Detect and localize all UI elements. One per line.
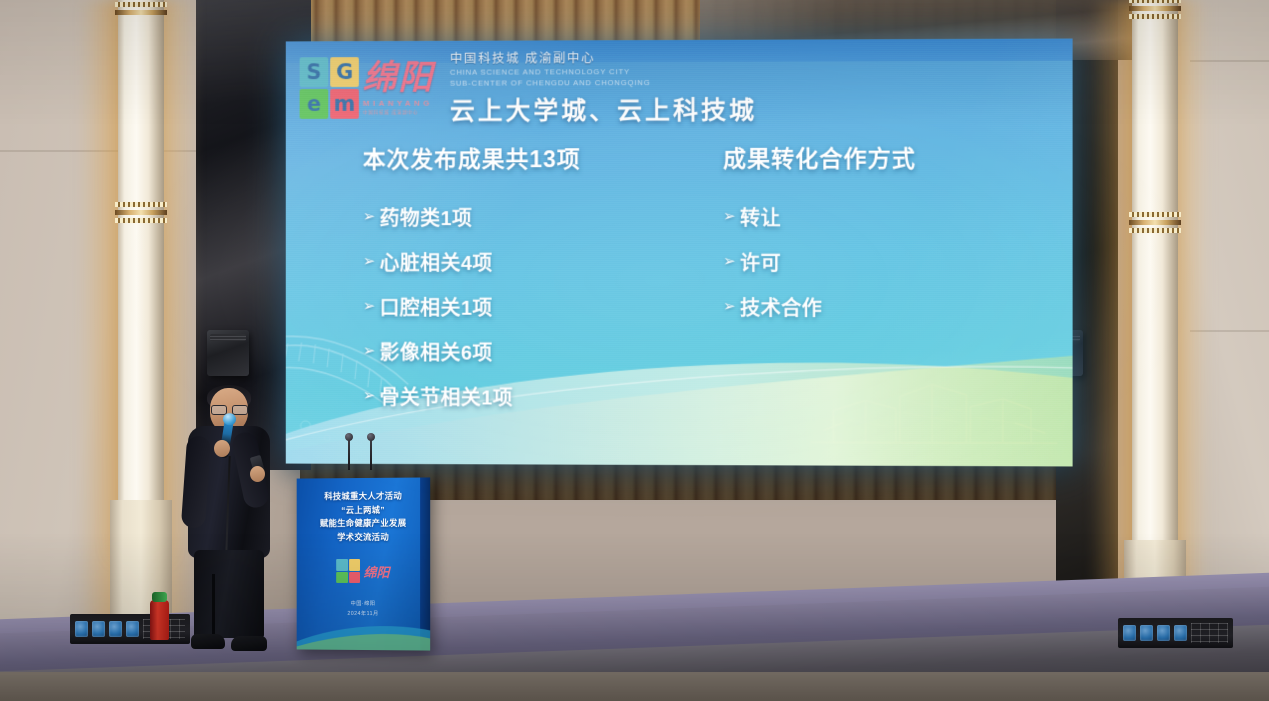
list-item-label: 药物类1项: [380, 202, 473, 231]
header-headline: 云上大学城、云上科技城: [450, 91, 757, 128]
logo-cell-s: S: [300, 57, 329, 87]
list-item-label: 骨关节相关1项: [380, 381, 514, 410]
bullet-arrow-icon: ➢: [723, 254, 740, 269]
logo-cell-m: m: [330, 89, 359, 119]
slide-column-transfer-modes: 成果转化合作方式 ➢ 转让 ➢ 许可 ➢ 技术合作: [723, 139, 1025, 428]
logo-city-name-pinyin: MIANYANG: [363, 98, 434, 107]
power-outlet: [1157, 625, 1170, 641]
presenter-person: [178, 388, 286, 656]
glasses-icon: [211, 405, 247, 413]
podium-logo-city-name: 绵阳: [363, 562, 389, 581]
list-item: ➢ 转让: [723, 202, 1025, 231]
list-item: ➢ 骨关节相关1项: [363, 381, 701, 411]
mianyang-logo-wordmark: 绵阳 MIANYANG 中国科技城 成渝副中心: [363, 60, 434, 115]
presenter-shoe-right: [231, 636, 267, 651]
header-line-cn: 中国科技城 成渝副中心: [450, 47, 757, 67]
conference-stage-photo: S G e m 绵阳 MIANYANG 中国科技城 成渝副中心 中国科技城 成渝…: [0, 0, 1269, 701]
slide-column-results: 本次发布成果共13项 ➢ 药物类1项 ➢ 心脏相关4项 ➢ 口腔相关1项 ➢ 影…: [363, 140, 701, 427]
wall-speaker-left: [207, 330, 249, 376]
list-item-label: 影像相关6项: [380, 337, 493, 366]
bullet-arrow-icon: ➢: [363, 209, 380, 224]
list-item-label: 转让: [740, 202, 781, 231]
bullet-arrow-icon: ➢: [723, 299, 740, 314]
bullet-arrow-icon: ➢: [723, 209, 740, 224]
decorative-pillar-right: [1132, 0, 1178, 594]
presenter-left-hand: [214, 440, 230, 457]
presenter-right-hand: [250, 466, 265, 482]
slide-header-text: 中国科技城 成渝副中心 CHINA SCIENCE AND TECHNOLOGY…: [450, 47, 757, 128]
header-line-en2: SUB-CENTER OF CHENGDU AND CHONGQING: [450, 77, 757, 89]
power-outlet: [1123, 625, 1136, 641]
decorative-pillar-left: [118, 0, 164, 554]
list-item: ➢ 影像相关6项: [363, 337, 701, 367]
bullet-arrow-icon: ➢: [363, 254, 380, 269]
logo-cell-e: e: [300, 89, 329, 119]
list-item-label: 技术合作: [740, 292, 822, 321]
column-title-transfer-modes: 成果转化合作方式: [723, 139, 1025, 174]
logo-city-tagline: 中国科技城 成渝副中心: [363, 109, 434, 115]
power-outlet-strip-left: [70, 614, 190, 644]
led-presentation-screen[interactable]: S G e m 绵阳 MIANYANG 中国科技城 成渝副中心 中国科技城 成渝…: [286, 39, 1073, 467]
slide-body: 本次发布成果共13项 ➢ 药物类1项 ➢ 心脏相关4项 ➢ 口腔相关1项 ➢ 影…: [286, 139, 1073, 428]
podium-logo: 绵阳: [324, 558, 402, 584]
power-outlet-strip-right: [1118, 618, 1233, 648]
venue-floor: [0, 672, 1269, 701]
mianyang-logo-mark: S G e m: [300, 57, 359, 119]
podium-lectern: 科技城重大人才活动 “云上两城” 赋能生命健康产业发展 学术交流活动 绵阳 中国…: [297, 477, 430, 650]
list-item: ➢ 口腔相关1项: [363, 292, 701, 321]
podium-title-line-4: 学术交流活动: [297, 531, 430, 545]
podium-title-line-1: 科技城重大人才活动: [297, 490, 430, 504]
list-item-label: 心脏相关4项: [380, 247, 493, 276]
microphone-stand: [370, 440, 372, 470]
column-title-results: 本次发布成果共13项: [363, 140, 701, 174]
logo-city-name-cn: 绵阳: [363, 60, 434, 94]
outlet-panel-grid: [1191, 623, 1228, 643]
podium-title-line-2: “云上两城”: [297, 503, 430, 517]
podium-footer-location: 中国·绵阳: [297, 600, 430, 610]
power-outlet: [92, 621, 105, 637]
power-outlet: [1174, 625, 1187, 641]
microphone-stand: [348, 440, 350, 470]
podium-logo-mark: [337, 559, 361, 583]
list-item: ➢ 药物类1项: [363, 202, 701, 231]
bullet-arrow-icon: ➢: [363, 343, 380, 358]
list-item: ➢ 技术合作: [723, 292, 1025, 321]
power-outlet: [126, 621, 139, 637]
presenter-leg-split: [212, 574, 215, 638]
power-outlet: [75, 621, 88, 637]
bullet-arrow-icon: ➢: [363, 388, 380, 403]
podium-title-line-3: 赋能生命健康产业发展: [297, 517, 430, 531]
power-outlet: [1140, 625, 1153, 641]
presenter-trousers: [194, 550, 264, 638]
list-item: ➢ 许可: [723, 247, 1025, 276]
bullet-arrow-icon: ➢: [363, 299, 380, 314]
list-item-label: 口腔相关1项: [380, 292, 493, 321]
power-outlet: [109, 621, 122, 637]
logo-cell-g: G: [330, 57, 359, 87]
fire-extinguisher: [150, 600, 169, 640]
podium-wave-graphic: [297, 616, 430, 651]
header-line-en1: CHINA SCIENCE AND TECHNOLOGY CITY: [450, 66, 757, 78]
presenter-shoe-left: [191, 634, 225, 649]
list-item-label: 许可: [740, 247, 781, 276]
podium-title-block: 科技城重大人才活动 “云上两城” 赋能生命健康产业发展 学术交流活动: [297, 490, 430, 545]
slide-header: S G e m 绵阳 MIANYANG 中国科技城 成渝副中心 中国科技城 成渝…: [286, 43, 1073, 131]
list-item: ➢ 心脏相关4项: [363, 247, 701, 276]
